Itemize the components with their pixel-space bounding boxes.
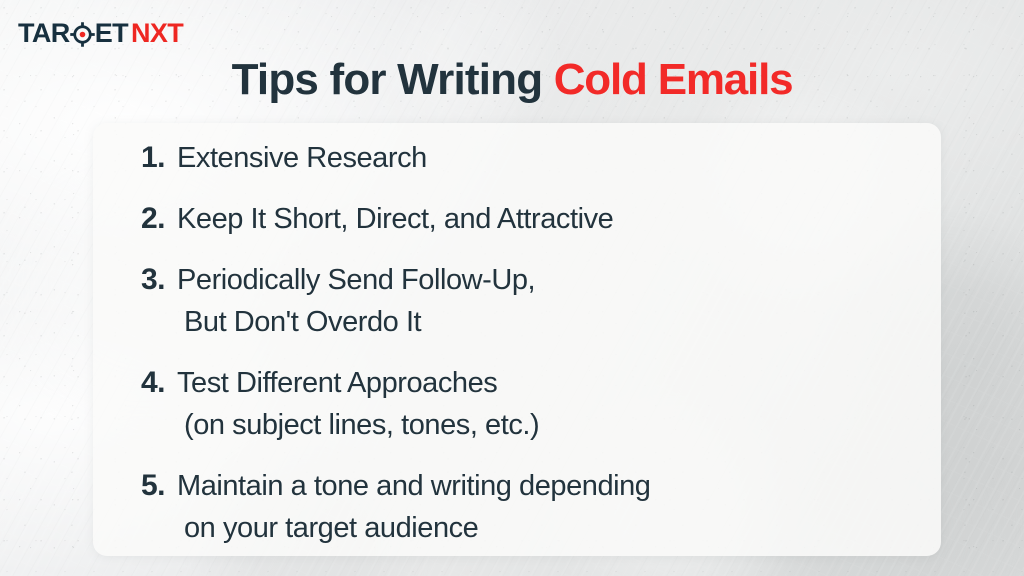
tip-line: Periodically Send Follow-Up, xyxy=(177,259,921,301)
list-item: 5. Maintain a tone and writing depending… xyxy=(141,465,921,549)
tip-number: 1. xyxy=(141,137,177,179)
tip-line: on your target audience xyxy=(177,507,921,549)
tip-line: But Don't Overdo It xyxy=(177,301,921,343)
brand-logo[interactable]: TAR ET NXT xyxy=(18,18,183,48)
logo-text-target-part2: ET xyxy=(95,20,128,47)
tip-text: Periodically Send Follow-Up, But Don't O… xyxy=(177,259,921,343)
list-item: 4. Test Different Approaches (on subject… xyxy=(141,362,921,446)
list-item: 1. Extensive Research xyxy=(141,137,921,179)
crosshair-target-icon xyxy=(70,22,95,47)
tip-line: Keep It Short, Direct, and Attractive xyxy=(177,198,921,240)
tip-number: 5. xyxy=(141,465,177,507)
logo-text-target: TAR ET xyxy=(18,20,128,47)
list-item: 2. Keep It Short, Direct, and Attractive xyxy=(141,198,921,240)
page-title-accent: Cold Emails xyxy=(554,55,793,104)
tip-line: (on subject lines, tones, etc.) xyxy=(177,404,921,446)
tip-text: Maintain a tone and writing depending on… xyxy=(177,465,921,549)
tip-text: Test Different Approaches (on subject li… xyxy=(177,362,921,446)
tip-number: 4. xyxy=(141,362,177,404)
tips-list: 1. Extensive Research 2. Keep It Short, … xyxy=(141,137,921,568)
tip-text: Keep It Short, Direct, and Attractive xyxy=(177,198,921,240)
logo-text-nxt: NXT xyxy=(131,20,183,47)
page-title-main: Tips for Writing xyxy=(232,55,554,104)
tips-card: 1. Extensive Research 2. Keep It Short, … xyxy=(93,123,941,556)
tip-number: 2. xyxy=(141,198,177,240)
tip-line: Extensive Research xyxy=(177,137,921,179)
logo-text-target-part1: TAR xyxy=(18,20,70,47)
slide-canvas: TAR ET NXT Tips for Writing Cold Emails … xyxy=(0,0,1024,576)
tip-number: 3. xyxy=(141,259,177,301)
tip-line: Test Different Approaches xyxy=(177,362,921,404)
page-title: Tips for Writing Cold Emails xyxy=(0,52,1024,108)
tip-line: Maintain a tone and writing depending xyxy=(177,465,921,507)
list-item: 3. Periodically Send Follow-Up, But Don'… xyxy=(141,259,921,343)
tip-text: Extensive Research xyxy=(177,137,921,179)
